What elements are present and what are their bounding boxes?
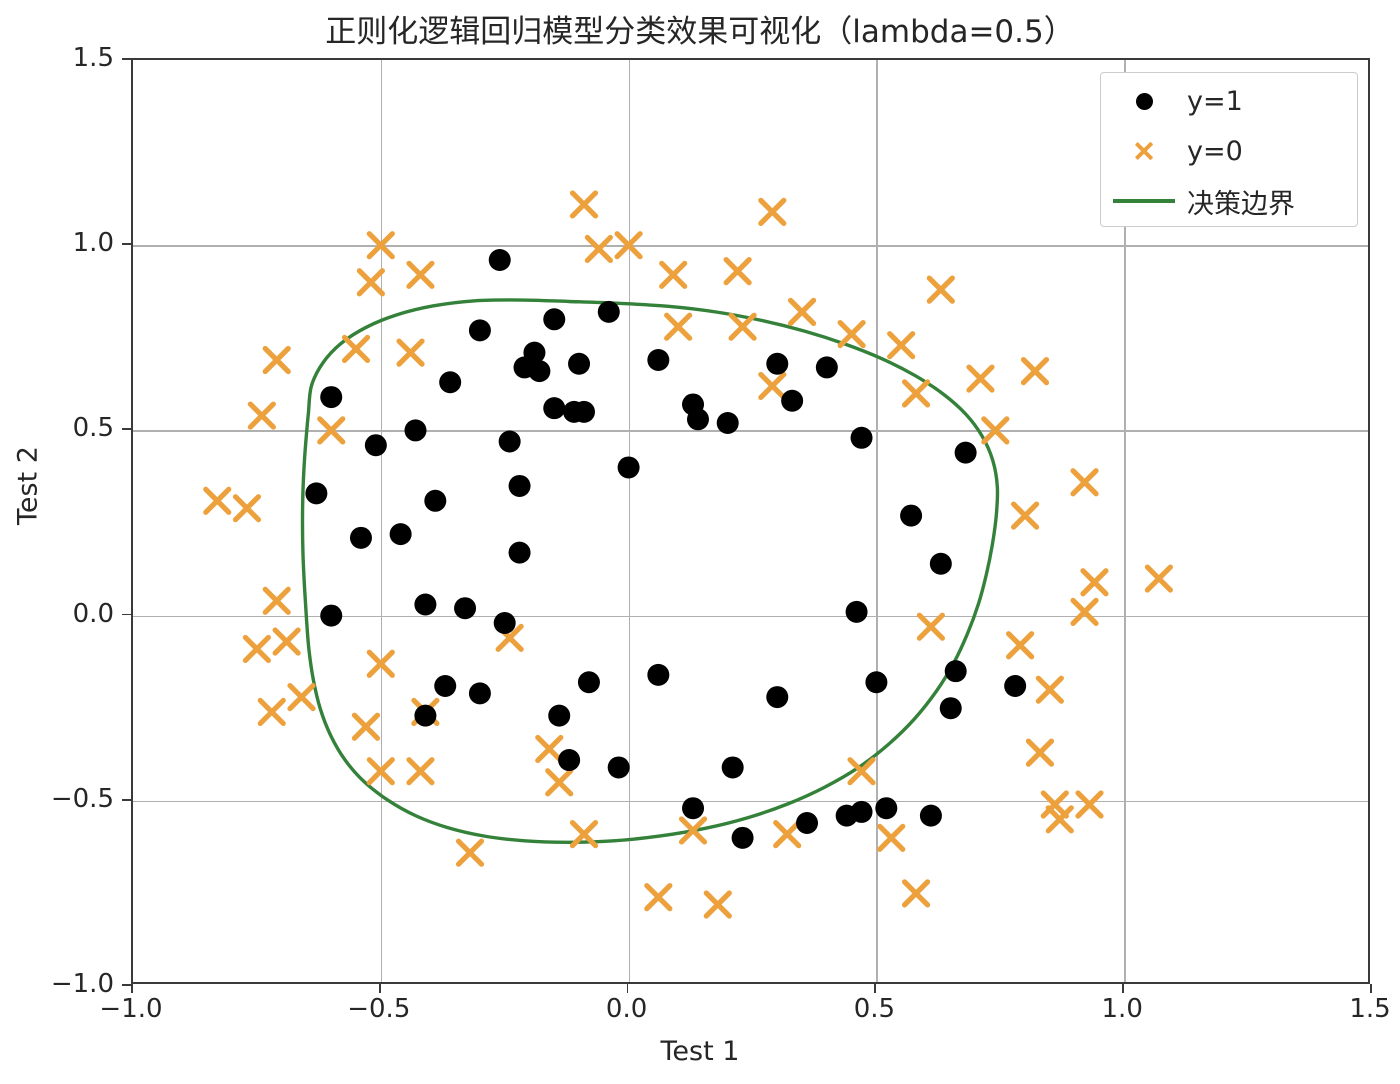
data-point-y1 [930, 553, 952, 575]
data-point-y0 [235, 497, 258, 520]
data-point-y0 [250, 404, 273, 427]
data-point-y1 [865, 671, 887, 693]
data-point-y1 [940, 697, 962, 719]
x-tick-mark [874, 984, 876, 993]
data-point-y1 [955, 442, 977, 464]
data-point-y0 [929, 278, 952, 301]
data-point-y0 [905, 882, 928, 905]
data-point-y0 [587, 237, 610, 260]
data-point-y0 [1078, 793, 1101, 816]
data-point-y1 [578, 671, 600, 693]
data-point-y0 [369, 234, 392, 257]
data-point-y0 [572, 193, 595, 216]
line-sample-icon [1101, 199, 1187, 204]
data-point-y0 [1028, 741, 1051, 764]
x-tick-label: 1.5 [1349, 994, 1390, 1024]
y-tick-label: 1.0 [73, 228, 114, 258]
data-point-y0 [647, 886, 670, 909]
data-point-y1 [509, 475, 531, 497]
data-point-y0 [969, 367, 992, 390]
data-point-y0 [265, 589, 288, 612]
data-point-y1 [469, 319, 491, 341]
data-point-y0 [1038, 678, 1061, 701]
data-point-y1 [900, 505, 922, 527]
data-point-y1 [766, 353, 788, 375]
data-point-y1 [608, 756, 630, 778]
data-point-y0 [459, 841, 482, 864]
data-point-y1 [816, 356, 838, 378]
data-point-y1 [796, 812, 818, 834]
x-tick-mark [1370, 984, 1372, 993]
x-tick-mark [627, 984, 629, 993]
x-tick-label: −0.5 [347, 994, 410, 1024]
data-point-y0 [761, 200, 784, 223]
data-point-y1 [414, 705, 436, 727]
data-point-y1 [1004, 675, 1026, 697]
data-point-y1 [568, 353, 590, 375]
data-point-y1 [390, 523, 412, 545]
data-point-y1 [647, 664, 669, 686]
data-point-y1 [851, 427, 873, 449]
data-point-y1 [548, 705, 570, 727]
legend-item-boundary: 决策边界 [1101, 179, 1357, 223]
y-tick-mark [122, 984, 131, 986]
data-point-y0 [265, 349, 288, 372]
data-point-y1 [350, 527, 372, 549]
data-point-y1 [509, 542, 531, 564]
data-point-y1 [305, 482, 327, 504]
data-point-y0 [275, 630, 298, 653]
data-point-y1 [365, 434, 387, 456]
data-point-y0 [880, 826, 903, 849]
legend-item-y0: y=0 [1101, 129, 1357, 173]
data-point-y0 [369, 760, 392, 783]
data-point-y0 [260, 700, 283, 723]
x-tick-label: 0.5 [854, 994, 895, 1024]
data-point-y0 [731, 315, 754, 338]
data-point-y1 [851, 801, 873, 823]
data-point-y0 [1014, 504, 1037, 527]
data-point-y0 [890, 334, 913, 357]
chart-title: 正则化逻辑回归模型分类效果可视化（lambda=0.5） [0, 6, 1400, 51]
data-point-y0 [1009, 634, 1032, 657]
data-point-y0 [359, 271, 382, 294]
data-point-y1 [469, 682, 491, 704]
data-point-y1 [528, 360, 550, 382]
x-axis-label: Test 1 [0, 1036, 1400, 1067]
y-tick-mark [122, 58, 131, 60]
data-point-y0 [345, 337, 368, 360]
data-point-y0 [206, 489, 229, 512]
data-point-y1 [781, 390, 803, 412]
y-tick-label: −1.0 [51, 969, 114, 999]
data-point-y1 [558, 749, 580, 771]
data-point-y1 [598, 301, 620, 323]
data-point-y1 [573, 401, 595, 423]
x-tick-label: 1.0 [1102, 994, 1143, 1024]
data-point-y0 [761, 374, 784, 397]
data-point-y0 [840, 323, 863, 346]
data-point-y1 [717, 412, 739, 434]
data-point-y0 [905, 382, 928, 405]
data-point-y0 [1073, 600, 1096, 623]
data-point-y0 [776, 823, 799, 846]
y-tick-label: 1.5 [73, 43, 114, 73]
data-point-y1 [494, 612, 516, 634]
data-point-y1 [404, 419, 426, 441]
data-point-y1 [434, 675, 456, 697]
data-point-y0 [667, 315, 690, 338]
data-point-y1 [489, 249, 511, 271]
data-point-y0 [290, 686, 313, 709]
data-point-y1 [454, 597, 476, 619]
data-point-y0 [538, 737, 561, 760]
data-point-y0 [399, 341, 422, 364]
data-point-y0 [662, 263, 685, 286]
data-point-y1 [945, 660, 967, 682]
data-point-y0 [548, 771, 571, 794]
data-point-y0 [1073, 471, 1096, 494]
data-point-y0 [320, 419, 343, 442]
data-point-y1 [647, 349, 669, 371]
data-point-y0 [706, 893, 729, 916]
data-point-y0 [409, 263, 432, 286]
data-point-y1 [320, 605, 342, 627]
data-point-y1 [766, 686, 788, 708]
y-tick-label: 0.5 [73, 413, 114, 443]
data-point-y0 [984, 419, 1007, 442]
legend-item-y1: y=1 [1101, 79, 1357, 123]
legend-box: y=1 y=0 决策边界 [1100, 72, 1358, 227]
legend-label-boundary: 决策边界 [1187, 182, 1295, 221]
data-point-y1 [618, 456, 640, 478]
x-tick-label: 0.0 [606, 994, 647, 1024]
data-point-y1 [424, 490, 446, 512]
data-point-y1 [414, 593, 436, 615]
data-point-y0 [1023, 360, 1046, 383]
data-point-y1 [846, 601, 868, 623]
data-point-y1 [732, 827, 754, 849]
data-point-y1 [543, 308, 565, 330]
dot-marker-icon [1101, 93, 1187, 110]
legend-label-y0: y=0 [1187, 136, 1243, 167]
data-point-y0 [1083, 571, 1106, 594]
y-axis-label: Test 2 [13, 416, 44, 556]
data-point-y0 [1147, 567, 1170, 590]
data-point-y1 [687, 408, 709, 430]
y-tick-mark [122, 243, 131, 245]
y-tick-label: −0.5 [51, 784, 114, 814]
x-tick-mark [1122, 984, 1124, 993]
data-point-y0 [617, 234, 640, 257]
y-tick-label: 0.0 [73, 599, 114, 629]
data-point-y1 [499, 431, 521, 453]
data-point-y0 [369, 652, 392, 675]
y-tick-mark [122, 428, 131, 430]
data-point-y1 [682, 797, 704, 819]
data-point-y1 [722, 756, 744, 778]
data-point-y1 [920, 805, 942, 827]
x-marker-icon [1101, 140, 1187, 162]
data-point-y1 [439, 371, 461, 393]
y-tick-mark [122, 799, 131, 801]
data-point-y1 [875, 797, 897, 819]
x-tick-mark [131, 984, 133, 993]
data-point-y0 [245, 637, 268, 660]
x-tick-mark [379, 984, 381, 993]
data-point-y1 [543, 397, 565, 419]
data-point-y0 [919, 615, 942, 638]
data-point-y0 [354, 715, 377, 738]
data-point-y0 [409, 760, 432, 783]
figure-canvas: 正则化逻辑回归模型分类效果可视化（lambda=0.5） −1.0−0.50.0… [0, 0, 1400, 1084]
y-tick-mark [122, 614, 131, 616]
data-point-y0 [726, 260, 749, 283]
data-point-y0 [791, 300, 814, 323]
legend-label-y1: y=1 [1187, 86, 1243, 117]
data-point-y1 [320, 386, 342, 408]
